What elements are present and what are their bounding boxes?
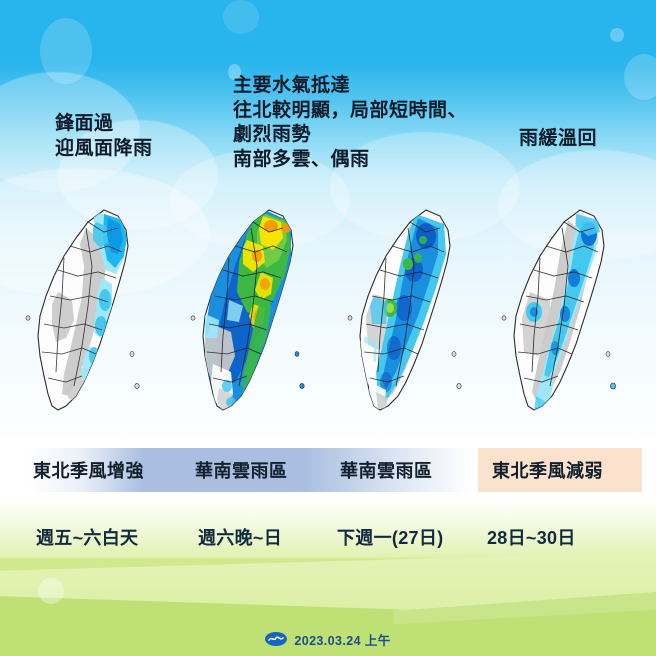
- date-label-4: 28日~30日: [487, 524, 576, 550]
- rainfall-map-4[interactable]: [484, 196, 648, 446]
- date-label-3: 下週一(27日): [337, 524, 443, 550]
- headline-left: 鋒面過 迎風面降雨: [55, 112, 153, 161]
- rainfall-map-3[interactable]: [330, 196, 494, 446]
- date-row: 週五~六白天 週六晚~日 下週一(27日) 28日~30日: [0, 524, 656, 558]
- sky-bubble: [624, 54, 656, 100]
- sky-bubble: [223, 0, 259, 34]
- cwb-swallow-logo-icon: [265, 632, 287, 646]
- date-label-2: 週六晚~日: [198, 524, 282, 550]
- headline-middle: 主要水氣抵達 往北較明顯，局部短時間、 劇烈雨勢 南部多雲、偶雨: [233, 74, 467, 173]
- band-label-3: 華南雲雨區: [340, 457, 433, 483]
- band-label-2: 華南雲雨區: [195, 457, 288, 483]
- headline-right: 雨緩溫回: [519, 127, 597, 152]
- footer-watermark: 2023.03.24 上午: [0, 627, 656, 651]
- weather-system-band: 東北季風增強 華南雲雨區 華南雲雨區 東北季風減弱: [0, 448, 656, 492]
- map2-rainfall-layer: [205, 210, 291, 410]
- band-label-4: 東北季風減弱: [492, 457, 603, 483]
- date-label-1: 週五~六白天: [36, 524, 138, 550]
- ground-glow: [38, 578, 64, 604]
- rainfall-map-1[interactable]: [8, 196, 172, 446]
- rainfall-maps-row: [0, 196, 656, 446]
- timestamp-text: 2023.03.24 上午: [294, 630, 390, 649]
- weather-infographic-poster: 鋒面過 迎風面降雨 主要水氣抵達 往北較明顯，局部短時間、 劇烈雨勢 南部多雲、…: [0, 0, 656, 656]
- band-label-1: 東北季風增強: [33, 457, 144, 483]
- rainfall-map-2[interactable]: [173, 196, 337, 446]
- sky-bubble: [610, 28, 624, 42]
